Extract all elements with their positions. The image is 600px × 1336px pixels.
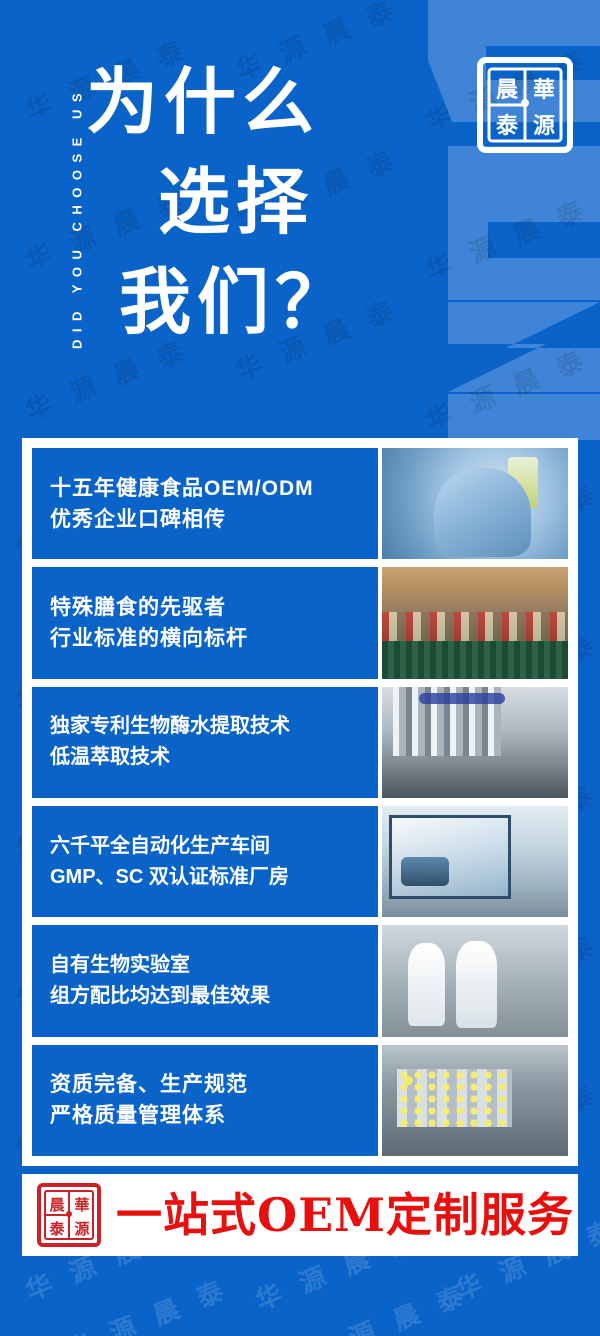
cleanroom-corridor-photo (382, 806, 568, 917)
tablet-packaging-photo (382, 1045, 568, 1156)
company-seal-red-icon: 晨 泰 華 源 (36, 1182, 102, 1248)
page-title: 为什么 选择 我们？ (86, 52, 386, 352)
feature-row: 六千平全自动化生产车间 GMP、SC 双认证标准厂房 (32, 806, 568, 917)
feature-line-2: 组方配比均达到最佳效果 (50, 981, 360, 1012)
feature-text-block: 独家专利生物酶水提取技术 低温萃取技术 (32, 687, 378, 798)
feature-text-block: 自有生物实验室 组方配比均达到最佳效果 (32, 925, 378, 1036)
feature-row: 自有生物实验室 组方配比均达到最佳效果 (32, 925, 568, 1036)
feature-text-block: 特殊膳食的先驱者 行业标准的横向标杆 (32, 567, 378, 678)
feature-row: 特殊膳食的先驱者 行业标准的横向标杆 (32, 567, 568, 678)
feature-line-1: 六千平全自动化生产车间 (50, 831, 360, 862)
poster-header: 为什么 选择 我们？ DID YOU CHOOSE US 晨 泰 華 源 (0, 0, 600, 438)
feature-row: 资质完备、生产规范 严格质量管理体系 (32, 1045, 568, 1156)
features-list: 十五年健康食品OEM/ODM 优秀企业口碑相传 特殊膳食的先驱者 行业标准的横向… (32, 448, 568, 1156)
svg-text:晨: 晨 (496, 77, 519, 103)
svg-text:源: 源 (533, 113, 555, 139)
feature-row: 独家专利生物酶水提取技术 低温萃取技术 (32, 687, 568, 798)
feature-row: 十五年健康食品OEM/ODM 优秀企业口碑相传 (32, 448, 568, 559)
lab-staff-photo (382, 925, 568, 1036)
title-line-3: 我们？ (86, 252, 386, 352)
feature-line-1: 自有生物实验室 (50, 950, 360, 981)
feature-text-block: 六千平全自动化生产车间 GMP、SC 双认证标准厂房 (32, 806, 378, 917)
feature-text-block: 资质完备、生产规范 严格质量管理体系 (32, 1045, 378, 1156)
features-panel: 十五年健康食品OEM/ODM 优秀企业口碑相传 特殊膳食的先驱者 行业标准的横向… (22, 438, 578, 1166)
svg-text:晨: 晨 (49, 1196, 65, 1214)
feature-line-2: GMP、SC 双认证标准厂房 (50, 862, 360, 893)
footer-slogan: 一站式OEM定制服务 (116, 1189, 574, 1241)
feature-line-2: 行业标准的横向标杆 (50, 623, 360, 654)
poster-root: 华 源 晨 泰 华 源 晨 泰 华 源 晨 泰 华 源 晨 泰 华 源 晨 泰 … (0, 0, 600, 1336)
svg-text:源: 源 (74, 1220, 89, 1238)
feature-line-1: 十五年健康食品OEM/ODM (50, 473, 360, 504)
conference-audience-photo (382, 567, 568, 678)
svg-text:泰: 泰 (48, 1220, 65, 1238)
svg-text:華: 華 (74, 1196, 89, 1214)
vertical-english-tagline: DID YOU CHOOSE US (70, 48, 85, 388)
svg-text:泰: 泰 (495, 113, 519, 139)
feature-line-2: 优秀企业口碑相传 (50, 504, 360, 535)
feature-line-2: 低温萃取技术 (50, 742, 360, 773)
lab-technician-photo (382, 448, 568, 559)
feature-line-1: 资质完备、生产规范 (50, 1069, 360, 1100)
watermark-text: 华 源 晨 泰 (299, 1274, 473, 1336)
feature-line-1: 特殊膳食的先驱者 (50, 592, 360, 623)
title-line-1: 为什么 (86, 52, 386, 152)
company-seal-icon: 晨 泰 華 源 (476, 57, 574, 153)
feature-line-1: 独家专利生物酶水提取技术 (50, 711, 360, 742)
watermark-text: 华 源 晨 泰 (59, 1269, 233, 1336)
title-line-2: 选择 (86, 152, 386, 252)
svg-text:華: 華 (533, 77, 555, 103)
feature-text-block: 十五年健康食品OEM/ODM 优秀企业口碑相传 (32, 448, 378, 559)
footer-bar: 晨 泰 華 源 一站式OEM定制服务 (22, 1174, 578, 1256)
filling-machine-photo (382, 687, 568, 798)
feature-line-2: 严格质量管理体系 (50, 1100, 360, 1131)
